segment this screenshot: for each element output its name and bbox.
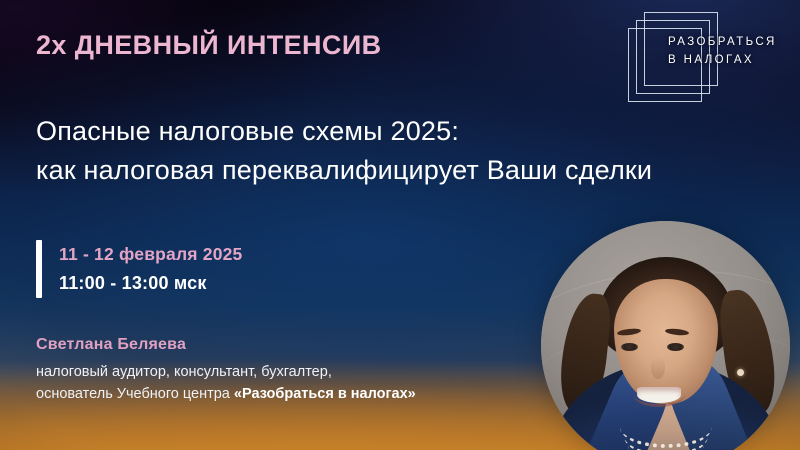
accent-bar [36,240,42,298]
speaker-role-line-1: налоговый аудитор, консультант, бухгалте… [36,361,416,383]
webinar-banner: РАЗОБРАТЬСЯ В НАЛОГАХ 2х ДНЕВНЫЙ ИНТЕНСИ… [0,0,800,450]
logo-text: РАЗОБРАТЬСЯ В НАЛОГАХ [668,34,777,70]
speaker-role-prefix: основатель Учебного центра [36,386,234,402]
event-date: 11 - 12 февраля 2025 [59,244,243,265]
title-line-1: Опасные налоговые схемы 2025: [36,112,652,151]
portrait-nose [651,357,665,379]
speaker-role-brand: «Разобраться в налогах» [234,386,416,402]
speaker-name: Светлана Беляева [36,336,416,354]
portrait-eye-right [667,343,684,351]
portrait-eye-left [621,343,638,351]
date-time-texts: 11 - 12 февраля 2025 11:00 - 13:00 мск [59,240,243,298]
portrait-lower-lip [633,381,685,407]
date-time-block: 11 - 12 февраля 2025 11:00 - 13:00 мск [36,240,243,298]
portrait-pearl-necklace [620,406,712,450]
portrait-earring [737,369,744,376]
title-line-2: как налоговая переквалифицирует Ваши сде… [36,151,652,190]
logo-text-line-1: РАЗОБРАТЬСЯ [668,34,777,52]
speaker-role-line-2: основатель Учебного центра «Разобраться … [36,383,416,405]
page-title: Опасные налоговые схемы 2025: как налого… [36,112,652,190]
event-time: 11:00 - 13:00 мск [59,273,243,294]
speaker-block: Светлана Беляева налоговый аудитор, конс… [36,336,416,405]
brand-logo: РАЗОБРАТЬСЯ В НАЛОГАХ [628,8,792,100]
portrait-illustration [541,221,790,450]
eyebrow-headline: 2х ДНЕВНЫЙ ИНТЕНСИВ [36,30,382,61]
logo-text-line-2: В НАЛОГАХ [668,52,777,70]
speaker-photo [541,221,790,450]
